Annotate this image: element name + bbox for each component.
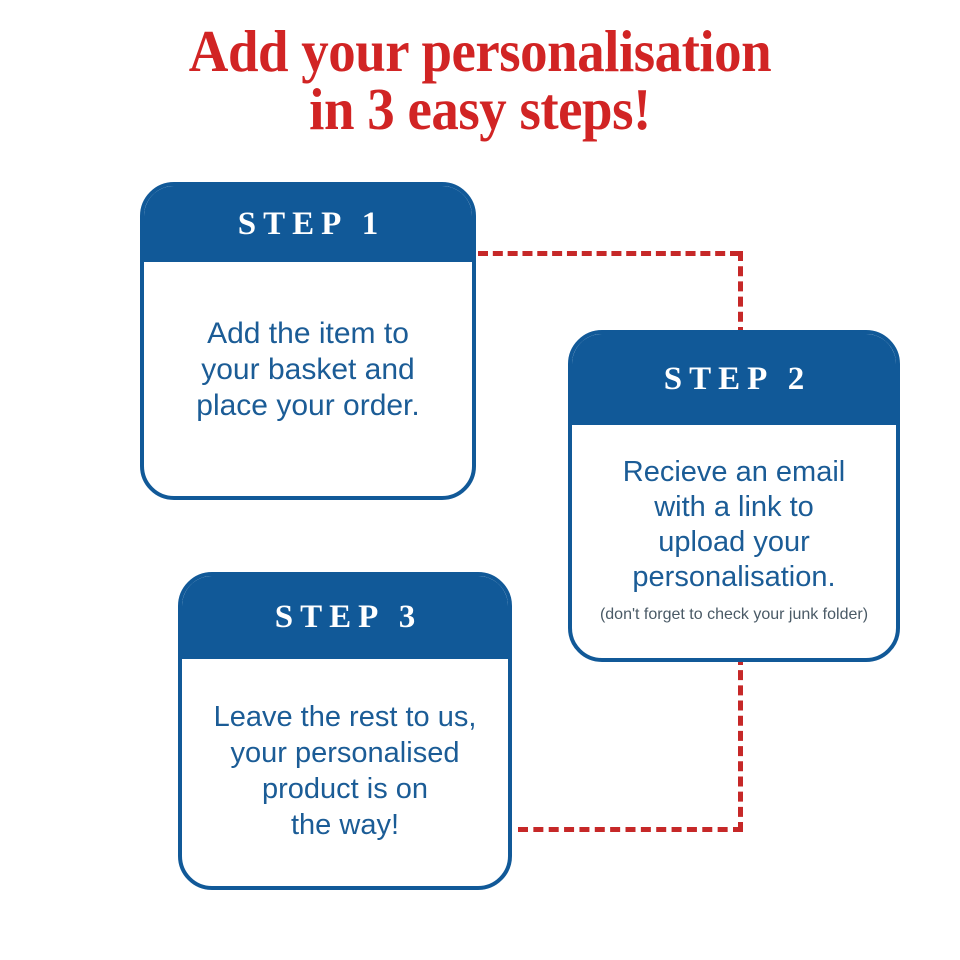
- page-title: Add your personalisation in 3 easy steps…: [34, 22, 927, 138]
- step-1-body: Add the item to your basket and place yo…: [144, 262, 472, 496]
- step-1-header: STEP 1: [144, 186, 472, 262]
- connector-step2-step3-vertical: [738, 655, 743, 832]
- connector-step2-step3-horizontal: [518, 827, 743, 832]
- connector-step1-step2-vertical: [738, 251, 743, 337]
- step-3-header: STEP 3: [182, 576, 508, 659]
- step-2-text: Recieve an email with a link to upload y…: [623, 455, 845, 595]
- step-card-3: STEP 3 Leave the rest to us, your person…: [178, 572, 512, 890]
- connector-step1-step2-horizontal: [478, 251, 740, 256]
- page-title-line-1: Add your personalisation: [34, 22, 927, 80]
- step-2-body: Recieve an email with a link to upload y…: [572, 425, 896, 658]
- step-3-text: Leave the rest to us, your personalised …: [214, 699, 477, 843]
- step-card-1: STEP 1 Add the item to your basket and p…: [140, 182, 476, 500]
- infographic-poster: Add your personalisation in 3 easy steps…: [0, 0, 960, 960]
- page-title-line-2: in 3 easy steps!: [34, 80, 927, 138]
- step-2-note: (don't forget to check your junk folder): [600, 605, 868, 625]
- step-card-2: STEP 2 Recieve an email with a link to u…: [568, 330, 900, 662]
- step-1-text: Add the item to your basket and place yo…: [196, 316, 419, 424]
- step-2-header: STEP 2: [572, 334, 896, 425]
- step-3-body: Leave the rest to us, your personalised …: [182, 659, 508, 886]
